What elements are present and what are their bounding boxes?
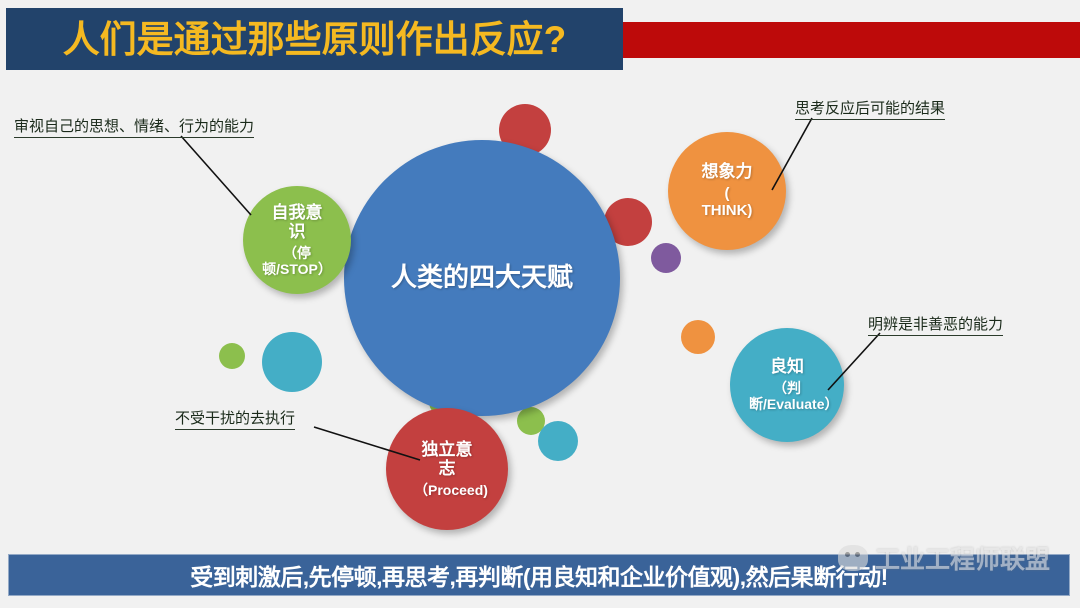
decorative-dot <box>651 243 681 273</box>
circle-conscience[interactable]: 良知 （判断/Evaluate） <box>730 328 844 442</box>
circle-independent-will-label-en: （Proceed) <box>414 483 480 499</box>
center-circle-human-gifts[interactable]: 人类的四大天赋 <box>344 140 620 416</box>
circle-self-awareness-label-cn: 自我意 <box>266 203 328 222</box>
circle-imagination-label-en: ( <box>696 186 758 203</box>
slide-canvas: 人们是通过那些原则作出反应? 人类的四大天赋 自我意 识 （停顿/STOP） 想… <box>0 0 1080 608</box>
watermark-text: 工业工程师联盟 <box>875 540 1050 576</box>
annotation-independent-will: 不受干扰的去执行 <box>175 407 295 430</box>
decorative-dot <box>681 320 715 354</box>
circle-conscience-label-en: （判断/Evaluate） <box>749 381 825 412</box>
decorative-dot <box>538 421 578 461</box>
circle-conscience-label-cn: 良知 <box>752 357 822 376</box>
slide-title-bar: 人们是通过那些原则作出反应? <box>6 8 623 70</box>
wechat-icon <box>838 545 868 571</box>
circle-self-awareness-label-cn2: 识 <box>266 222 328 241</box>
circle-self-awareness-label-en: （停顿/STOP） <box>260 246 334 277</box>
watermark: 工业工程师联盟 <box>838 540 1050 576</box>
annotation-imagination: 思考反应后可能的结果 <box>795 97 945 120</box>
circle-independent-will[interactable]: 独立意 志 （Proceed) <box>386 408 508 530</box>
header-accent-bar <box>623 22 1080 58</box>
circle-independent-will-label-cn: 独立意 <box>416 440 478 459</box>
circle-independent-will-label-cn2: 志 <box>416 459 478 478</box>
footer-banner-text: 受到刺激后,先停顿,再思考,再判断(用良知和企业价值观),然后果断行动! <box>190 558 888 592</box>
annotation-self-awareness: 审视自己的思想、情绪、行为的能力 <box>14 115 254 138</box>
decorative-dot <box>219 343 245 369</box>
annotation-conscience: 明辨是非善恶的能力 <box>868 313 1003 336</box>
circle-imagination-label-en2: THINK) <box>696 203 758 220</box>
page-title: 人们是通过那些原则作出反应? <box>63 21 567 58</box>
circle-self-awareness[interactable]: 自我意 识 （停顿/STOP） <box>243 186 351 294</box>
circle-imagination-label-cn: 想象力 <box>687 162 767 181</box>
decorative-dot <box>262 332 322 392</box>
center-circle-label: 人类的四大天赋 <box>391 263 573 292</box>
circle-imagination[interactable]: 想象力 ( THINK) <box>668 132 786 250</box>
